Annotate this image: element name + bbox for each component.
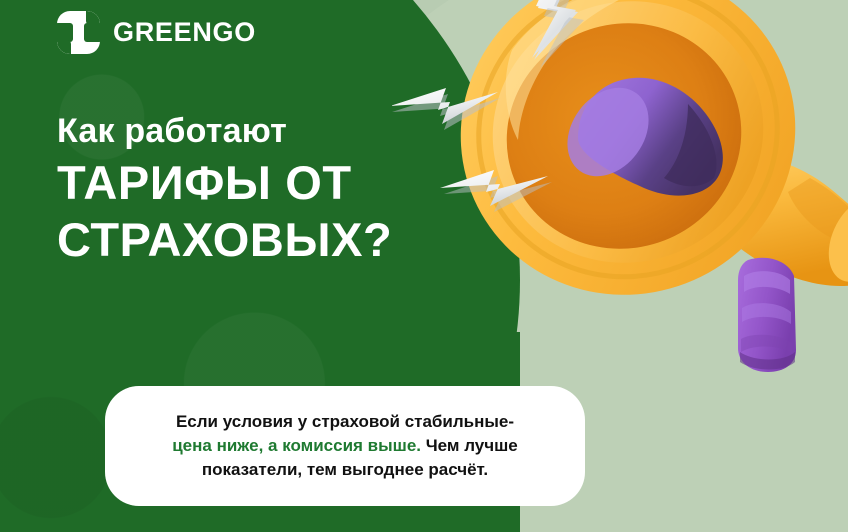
promo-poster: GREENGO Как работают ТАРИФЫ ОТ СТРАХОВЫХ… (0, 0, 848, 532)
info-card-line-2-rest: Чем лучше (421, 436, 518, 455)
info-card-line-3: показатели, тем выгоднее расчёт. (202, 460, 488, 479)
headline-line-2: ТАРИФЫ ОТ (57, 154, 392, 211)
info-card-line-1: Если условия у страховой стабильные- (176, 412, 514, 431)
info-card-highlight: цена ниже, а комиссия выше. (172, 436, 421, 455)
info-card-text: Если условия у страховой стабильные- цен… (156, 410, 534, 482)
info-card: Если условия у страховой стабильные- цен… (105, 386, 585, 506)
brand-name: GREENGO (113, 19, 256, 46)
megaphone-illustration (392, 0, 848, 404)
brand-logo[interactable]: GREENGO (57, 11, 256, 54)
greengo-pinwheel-icon (57, 11, 100, 54)
headline-line-1: Как работают (57, 112, 392, 150)
headline: Как работают ТАРИФЫ ОТ СТРАХОВЫХ? (57, 112, 392, 269)
headline-line-3: СТРАХОВЫХ? (57, 211, 392, 268)
megaphone-handle (738, 258, 796, 372)
